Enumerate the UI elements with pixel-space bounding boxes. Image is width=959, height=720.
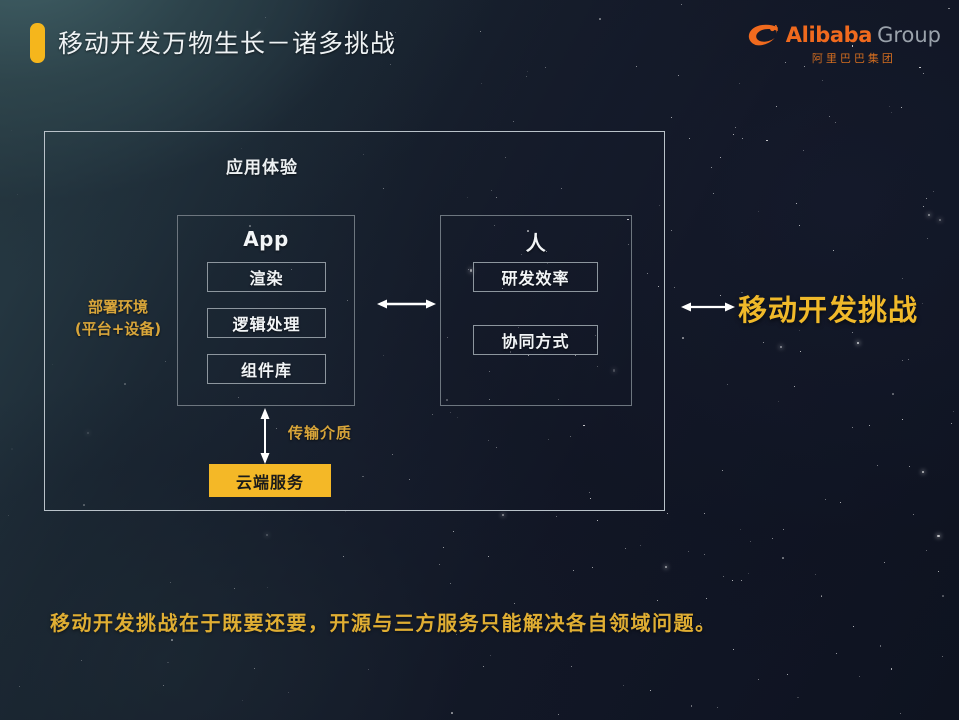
people-item-collaboration-mode: 协同方式 <box>473 325 598 355</box>
people-item-rd-efficiency: 研发效率 <box>473 262 598 292</box>
page-title: 移动开发万物生长－诸多挑战 <box>58 24 396 60</box>
alibaba-group-logo: Alibaba Group 阿里巴巴集团 <box>747 22 941 66</box>
transport-medium-label: 传输介质 <box>288 422 352 443</box>
app-panel-title: App <box>178 227 354 251</box>
alibaba-logo-mark-icon <box>747 22 781 48</box>
slide-canvas: 移动开发万物生长－诸多挑战 Alibaba Group 阿里巴巴集团 应用体验 … <box>0 0 959 720</box>
double-arrow-icon-between-panels <box>377 298 436 310</box>
logo-text-group: Group <box>877 25 941 46</box>
deploy-environment-label: 部署环境 (平台+设备) <box>56 296 180 340</box>
diagram-frame-label: 应用体验 <box>226 153 298 178</box>
double-arrow-icon-to-headline <box>681 301 735 313</box>
deploy-environment-line2: (平台+设备) <box>75 320 161 338</box>
app-item-logic-processing: 逻辑处理 <box>207 308 326 338</box>
slide-header: 移动开发万物生长－诸多挑战 Alibaba Group 阿里巴巴集团 <box>0 0 959 86</box>
app-item-render: 渲染 <box>207 262 326 292</box>
title-accent-bar <box>30 23 45 63</box>
cloud-service-box: 云端服务 <box>209 464 331 497</box>
logo-text-chinese: 阿里巴巴集团 <box>812 50 896 66</box>
people-panel: 人 <box>440 215 632 406</box>
up-arrow-icon-cloud-to-app <box>259 408 271 464</box>
headline-mobile-dev-challenge: 移动开发挑战 <box>738 287 918 329</box>
logo-row: Alibaba Group <box>747 22 941 48</box>
deploy-environment-line1: 部署环境 <box>88 298 148 316</box>
slide-caption: 移动开发挑战在于既要还要，开源与三方服务只能解决各自领域问题。 <box>50 607 717 636</box>
app-item-component-library: 组件库 <box>207 354 326 384</box>
people-panel-title: 人 <box>441 227 631 256</box>
logo-text-alibaba: Alibaba <box>786 25 872 46</box>
